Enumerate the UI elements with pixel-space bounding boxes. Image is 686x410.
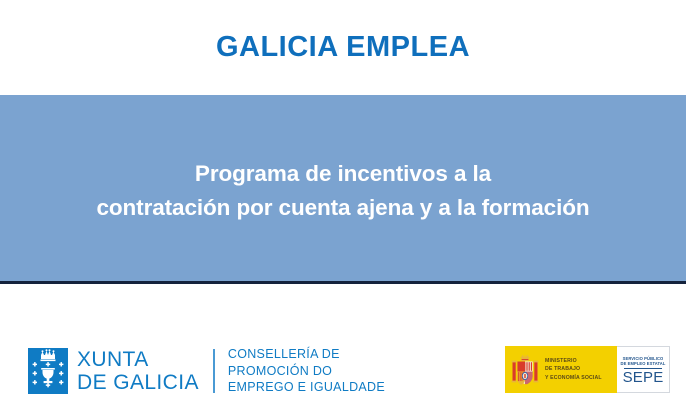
page-title: GALICIA EMPLEA — [216, 31, 470, 64]
banner-line-2: contratación por cuenta ajena y a la for… — [96, 191, 589, 225]
xunta-de-galicia-logo: XUNTA DE GALICIA CONSELLERÍA DE PROMOCIÓ… — [28, 346, 385, 396]
banner-line-1: Programa de incentivos a la — [96, 157, 589, 191]
poster-page: GALICIA EMPLEA Programa de incentivos a … — [0, 0, 686, 410]
xunta-wordmark: XUNTA DE GALICIA — [77, 348, 199, 394]
consellaria-line-1: CONSELLERÍA DE — [228, 346, 385, 363]
ministry-sepe-logo: MINISTERIO DE TRABAJO Y ECONOMÍA SOCIAL … — [505, 346, 670, 393]
consellaria-line-2: PROMOCIÓN DO — [228, 363, 385, 380]
banner-text: Programa de incentivos a la contratación… — [86, 157, 599, 225]
spain-coat-of-arms-icon — [511, 352, 539, 388]
logo-divider — [213, 349, 215, 393]
ministry-text: MINISTERIO DE TRABAJO Y ECONOMÍA SOCIAL — [545, 357, 602, 381]
xunta-name-line-1: XUNTA — [77, 348, 199, 371]
ministry-line-2: DE TRABAJO — [545, 365, 602, 373]
xunta-emblem-icon — [28, 348, 68, 394]
sepe-badge: SERVICIO PÚBLICO DE EMPLEO ESTATAL SEPE — [617, 346, 670, 393]
sepe-acronym: SEPE — [623, 370, 664, 385]
consellaria-text: CONSELLERÍA DE PROMOCIÓN DO EMPREGO E IG… — [228, 346, 385, 396]
sepe-name-line-2: DE EMPLEO ESTATAL — [621, 361, 666, 367]
consellaria-line-3: EMPREGO E IGUALDADE — [228, 379, 385, 396]
title-zone: GALICIA EMPLEA — [0, 0, 686, 95]
program-banner: Programa de incentivos a la contratación… — [0, 95, 686, 281]
xunta-name-line-2: DE GALICIA — [77, 371, 199, 394]
ministry-line-3: Y ECONOMÍA SOCIAL — [545, 374, 602, 382]
footer: XUNTA DE GALICIA CONSELLERÍA DE PROMOCIÓ… — [0, 284, 686, 410]
sepe-full-name: SERVICIO PÚBLICO DE EMPLEO ESTATAL — [621, 356, 666, 367]
ministry-badge: MINISTERIO DE TRABAJO Y ECONOMÍA SOCIAL — [505, 346, 617, 393]
ministry-line-1: MINISTERIO — [545, 357, 602, 365]
